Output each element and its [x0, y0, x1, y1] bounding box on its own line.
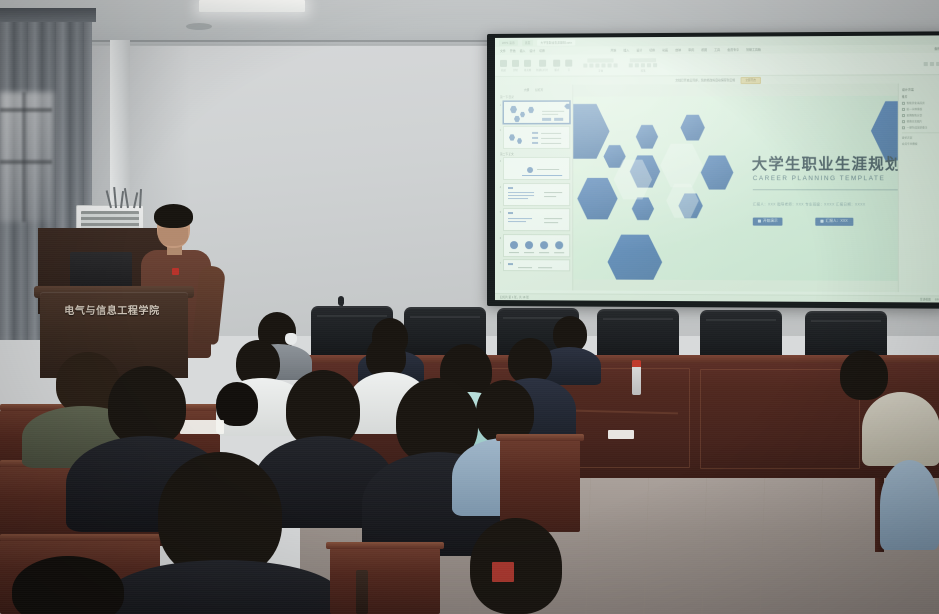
slide-primary-button[interactable]: 开始演示	[753, 217, 783, 225]
desk-panel-molding	[700, 369, 860, 469]
pane-link-label: 更多方案	[902, 136, 912, 140]
ribbon-group-shapes[interactable]	[924, 61, 939, 65]
bullet-list-icon[interactable]	[647, 63, 651, 67]
thumbnail-preview[interactable]	[503, 259, 570, 271]
speaker-badge	[172, 268, 179, 275]
thumbnail-item[interactable]: 3	[497, 157, 570, 180]
presentation-app-window: WPS 演示 首页 大学生职业生涯规划.pptx 文件 开始 插入 设计 切换 …	[495, 35, 939, 302]
thumbnail-number: 6	[497, 234, 501, 240]
ribbon-group-layout[interactable]: 版式	[553, 59, 560, 71]
slide-secondary-button[interactable]: 汇报人：XXX	[815, 217, 853, 225]
projected-desktop: WPS 演示 首页 大学生职业生涯规划.pptx 文件 开始 插入 设计 切换 …	[495, 35, 939, 302]
numbered-list-icon[interactable]	[653, 63, 657, 67]
hexagon-decor	[636, 124, 658, 149]
arrange-icon[interactable]	[930, 61, 934, 65]
ribbon-group-formatpainter[interactable]: 格式刷	[524, 59, 531, 71]
hexagon-decor	[632, 197, 654, 221]
thumbnail-preview[interactable]	[503, 126, 570, 149]
tab-wps[interactable]: WPS 演示	[499, 39, 518, 45]
thumbnail-item[interactable]: 7	[497, 259, 570, 271]
app-ribbon: 粘贴 剪切 格式刷 新建幻灯片	[495, 53, 939, 77]
ribbon-tab-animation[interactable]: 动画	[662, 48, 668, 52]
format-painter-icon	[524, 59, 531, 66]
bottle-cap	[632, 360, 641, 367]
enable-sync-button[interactable]: 立即开启	[740, 76, 761, 83]
highlight-icon[interactable]	[614, 63, 618, 67]
pane-option[interactable]: 统一字体排版	[902, 107, 939, 111]
speaker-face-shadow	[158, 228, 188, 246]
pane-option[interactable]: 一键生成演讲备注	[902, 125, 939, 129]
slide-button-label: 汇报人：XXX	[826, 219, 848, 224]
tab-document[interactable]: 大学生职业生涯规划.pptx	[537, 39, 575, 45]
hexagon-decor	[577, 177, 617, 221]
strikethrough-icon[interactable]	[602, 63, 606, 67]
pane-link-label: 会员专享模板	[902, 142, 918, 146]
font-name-box[interactable]	[587, 58, 613, 62]
checkbox-icon[interactable]	[902, 107, 905, 110]
checkbox-icon[interactable]	[902, 120, 905, 123]
ribbon-group-paragraph[interactable]: 段落	[629, 58, 657, 72]
bench-top-rail	[496, 434, 584, 441]
panel-chair	[597, 309, 679, 361]
thumbnail-number: 7	[497, 259, 501, 265]
ribbon-label: 新建幻灯片	[536, 67, 548, 71]
checkbox-icon[interactable]	[902, 126, 905, 129]
thumbnail-item[interactable]: 1	[497, 100, 570, 123]
thumbnail-number: 5	[497, 208, 501, 214]
hexagon-decor	[701, 154, 734, 190]
layout-icon	[553, 59, 560, 66]
ribbon-label: 剪切	[513, 67, 518, 71]
ribbon-tab-slideshow[interactable]: 放映	[675, 48, 681, 52]
pane-option[interactable]: 智能美化当前页	[902, 101, 939, 105]
status-right-group: 普通视图 68%	[920, 297, 939, 301]
slide-thumbnail-rail[interactable]: 大纲 幻灯片 第一节 目录 1	[495, 85, 573, 291]
face-mask	[285, 333, 297, 345]
thumbnail-item[interactable]: 5	[497, 208, 570, 231]
water-bottle	[632, 365, 641, 395]
menu-item-design[interactable]: 设计	[529, 49, 535, 53]
paragraph-spacing-box[interactable]	[630, 58, 656, 62]
ribbon-group-section[interactable]: 节	[565, 59, 572, 71]
font-color-icon[interactable]	[608, 63, 612, 67]
play-icon	[758, 220, 761, 223]
ribbon-tab-review[interactable]: 审阅	[688, 48, 694, 52]
current-slide[interactable]: 大学生职业生涯规划 CAREER PLANNING TEMPLATE 汇报人：X…	[573, 95, 898, 280]
ribbon-label: 段落	[641, 68, 646, 72]
thumbnail-number: 4	[497, 183, 501, 189]
ribbon-tab-member[interactable]: 会员专享	[727, 48, 739, 52]
checkbox-icon[interactable]	[902, 101, 905, 104]
bold-icon[interactable]	[583, 63, 587, 67]
font-style-buttons	[583, 63, 617, 67]
thumbnail-number: 1	[497, 100, 501, 106]
pane-option-label: 一键生成演讲备注	[907, 125, 928, 129]
thumbnail-number: 3	[497, 157, 501, 163]
lecture-hall-photo: WPS 演示 首页 大学生职业生涯规划.pptx 文件 开始 插入 设计 切换 …	[0, 0, 939, 614]
menu-item-start[interactable]: 开始	[510, 49, 516, 53]
ceiling-light-panel	[199, 0, 305, 12]
status-view-mode[interactable]: 普通视图	[920, 297, 931, 301]
align-left-icon[interactable]	[629, 63, 633, 67]
hexagon-decor	[573, 102, 609, 160]
ribbon-label: 字体	[598, 68, 603, 72]
desk-cup	[356, 570, 368, 614]
paragraph-align-buttons	[629, 63, 657, 67]
scissors-icon	[512, 59, 519, 66]
pane-option[interactable]: 更换配色方案	[902, 113, 939, 117]
slide-divider	[753, 189, 898, 190]
paste-icon	[500, 59, 507, 66]
menubar-ribbon-tabs: 开始 插入 设计 切换 动画 放映 审阅 视图 工具 会员专享 智能工具箱	[610, 48, 760, 53]
user-icon	[820, 220, 823, 223]
ribbon-group-paste[interactable]: 粘贴	[500, 59, 507, 71]
thumbnail-preview[interactable]	[503, 100, 570, 123]
thumbnail-preview[interactable]	[503, 183, 570, 206]
section-label-2: 第二节 正文	[500, 151, 570, 155]
menu-item-insert[interactable]: 插入	[520, 49, 526, 53]
bench-row	[330, 548, 440, 614]
pane-link[interactable]: 会员专享模板	[902, 142, 939, 146]
ribbon-group-font[interactable]: 字体	[583, 58, 617, 72]
thumbnail-preview[interactable]	[503, 234, 570, 257]
pane-title: 设计方案	[902, 87, 939, 91]
hexagon-highlight	[660, 142, 703, 188]
thumbnail-preview[interactable]	[503, 208, 570, 231]
ribbon-group-cut[interactable]: 剪切	[512, 59, 519, 71]
thumbnail-preview[interactable]	[503, 157, 570, 180]
tab-home[interactable]: 首页	[522, 39, 534, 45]
audience-head	[108, 366, 186, 446]
hexagon-decor	[680, 114, 704, 141]
ribbon-label: 节	[568, 67, 570, 71]
pane-section: 推荐	[902, 94, 939, 98]
curtain-rail	[0, 8, 96, 22]
align-right-icon[interactable]	[641, 63, 645, 67]
podium-sign: 电气与信息工程学院	[48, 301, 176, 318]
shape-icon[interactable]	[924, 61, 928, 65]
audience-shoulders	[862, 392, 939, 466]
speaker-hair	[154, 204, 193, 228]
ribbon-tab-transition[interactable]: 切换	[649, 48, 655, 52]
handheld-item	[492, 562, 514, 582]
ribbon-label: 粘贴	[501, 67, 506, 71]
ribbon-tab-start[interactable]: 开始	[610, 48, 616, 52]
menu-item-transition[interactable]: 切换	[539, 49, 545, 53]
slide-description: 汇报人：XXX 指导老师：XXX 专业班级：XXXX 汇报日期：XXXX	[753, 201, 866, 206]
thumbnail-item[interactable]: 6	[497, 234, 570, 257]
notice-text: 文档已开启云同步，您的修改将自动保存到云端	[675, 78, 735, 82]
pane-link[interactable]: 更多方案	[902, 136, 939, 140]
window-mullion	[0, 108, 52, 112]
menu-item-find[interactable]: 查找	[934, 47, 939, 51]
checkbox-icon[interactable]	[902, 114, 905, 117]
thumbnail-item[interactable]: 4	[497, 183, 570, 206]
thumbnail-item[interactable]: 2	[497, 126, 570, 149]
ribbon-tab-insert[interactable]: 插入	[623, 48, 629, 52]
rail-view-tabs: 大纲 幻灯片	[497, 88, 570, 92]
shape-buttons	[924, 61, 939, 65]
status-slide-counter: 幻灯片 第 1 张，共 18 张	[500, 295, 529, 299]
pane-option-label: 统一字体排版	[907, 107, 923, 111]
pane-option-label: 更换配色方案	[907, 113, 923, 117]
app-statusbar: 幻灯片 第 1 张，共 18 张 普通视图 68%	[495, 293, 939, 303]
window-mullion	[22, 92, 26, 222]
tab-slides[interactable]: 幻灯片	[535, 88, 543, 92]
ribbon-label: 格式刷	[524, 67, 531, 71]
slide-button-label: 开始演示	[763, 219, 778, 224]
ceiling-speaker-vent	[186, 23, 212, 30]
pane-option-label: 智能美化当前页	[907, 101, 925, 105]
audience-head	[470, 518, 562, 614]
underline-icon[interactable]	[596, 63, 600, 67]
menubar-left-group: 文件 开始 插入 设计 切换	[500, 49, 545, 53]
pen-holder-cluster	[108, 186, 148, 208]
align-center-icon[interactable]	[635, 63, 639, 67]
ribbon-group-newslide[interactable]: 新建幻灯片	[536, 59, 548, 71]
audience-head	[840, 350, 888, 400]
new-slide-icon	[539, 59, 546, 66]
handout-paper	[608, 430, 634, 439]
design-ideas-pane[interactable]: 设计方案 推荐 智能美化当前页 统一字体排版 更换配色方案	[898, 83, 939, 292]
ribbon-tab-view[interactable]: 视图	[701, 48, 707, 52]
app-body: 大纲 幻灯片 第一节 目录 1	[495, 83, 939, 292]
tab-outline[interactable]: 大纲	[524, 88, 529, 92]
slide-title: 大学生职业生涯规划	[752, 152, 898, 173]
handout-paper	[180, 420, 224, 434]
window-mullion	[0, 160, 52, 164]
ribbon-label: 版式	[554, 67, 559, 71]
ribbon-tab-tools[interactable]: 工具	[714, 48, 720, 52]
projection-screen: WPS 演示 首页 大学生职业生涯规划.pptx 文件 开始 插入 设计 切换 …	[487, 31, 939, 308]
menubar-right-group: 查找	[934, 47, 939, 51]
status-zoom-level[interactable]: 68%	[935, 298, 939, 301]
section-icon	[565, 59, 572, 66]
slide-canvas[interactable]: 大学生职业生涯规划 CAREER PLANNING TEMPLATE 汇报人：X…	[573, 84, 898, 293]
pane-option-label: 替换全文图片	[907, 119, 923, 123]
microphone-head	[338, 296, 344, 306]
audience-lap	[880, 460, 939, 550]
ribbon-tab-toolbox[interactable]: 智能工具箱	[746, 48, 761, 52]
slide-subtitle: CAREER PLANNING TEMPLATE	[753, 175, 886, 182]
section-label-1: 第一节 目录	[500, 95, 570, 99]
italic-icon[interactable]	[589, 63, 593, 67]
hexagon-decor	[608, 233, 663, 281]
thumbnail-number: 2	[497, 126, 501, 132]
ribbon-tab-design[interactable]: 设计	[636, 48, 642, 52]
menu-item-file[interactable]: 文件	[500, 49, 506, 53]
pane-option[interactable]: 替换全文图片	[902, 119, 939, 123]
bench-top-rail	[326, 542, 444, 549]
bench-top-rail	[0, 534, 168, 541]
